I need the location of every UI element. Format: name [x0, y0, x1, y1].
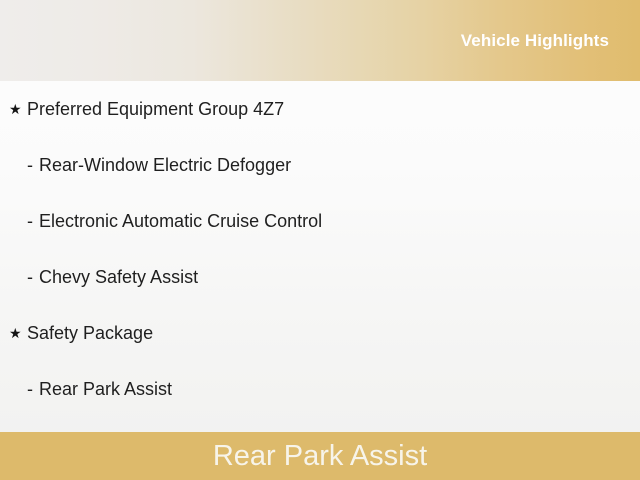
caption-bar: Rear Park Assist — [0, 432, 640, 480]
feature-label: Electronic Automatic Cruise Control — [39, 210, 322, 232]
highlights-list: ★ Preferred Equipment Group 4Z7 - Rear-W… — [0, 81, 640, 417]
page-title: Vehicle Highlights — [461, 31, 609, 51]
dash-icon: - — [27, 266, 33, 288]
dash-icon: - — [27, 210, 33, 232]
dash-icon: - — [27, 154, 33, 176]
slide-header: Vehicle Highlights — [0, 0, 640, 81]
feature-label: Rear-Window Electric Defogger — [39, 154, 291, 176]
feature-label: Chevy Safety Assist — [39, 266, 198, 288]
group-label: Safety Package — [27, 322, 153, 344]
feature-label: Rear Park Assist — [39, 378, 172, 400]
list-item-feature: - Chevy Safety Assist — [0, 249, 640, 305]
list-item-feature: - Rear Park Assist — [0, 361, 640, 417]
group-label: Preferred Equipment Group 4Z7 — [27, 98, 284, 120]
dash-icon: - — [27, 378, 33, 400]
caption-text: Rear Park Assist — [213, 439, 427, 473]
list-item-feature: - Electronic Automatic Cruise Control — [0, 193, 640, 249]
star-icon: ★ — [9, 100, 27, 118]
list-item-group: ★ Preferred Equipment Group 4Z7 — [0, 81, 640, 137]
list-item-feature: - Rear-Window Electric Defogger — [0, 137, 640, 193]
vehicle-highlights-slide: Vehicle Highlights ★ Preferred Equipment… — [0, 0, 640, 480]
star-icon: ★ — [9, 324, 27, 342]
list-item-group: ★ Safety Package — [0, 305, 640, 361]
